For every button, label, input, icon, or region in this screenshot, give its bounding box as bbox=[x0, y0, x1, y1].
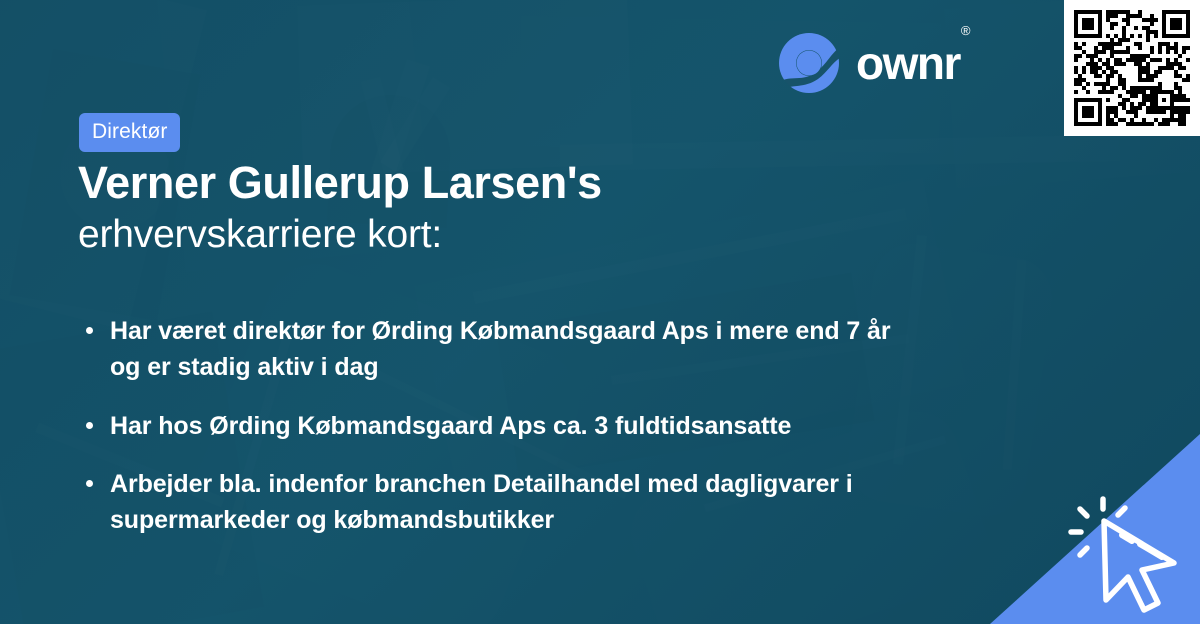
list-item-label: Har hos Ørding Købmandsgaard Aps ca. 3 f… bbox=[110, 412, 791, 440]
list-item: Har været direktør for Ørding Købmandsga… bbox=[82, 313, 910, 386]
bullet-icon bbox=[86, 327, 93, 334]
career-facts-list: Har været direktør for Ørding Købmandsga… bbox=[82, 313, 912, 538]
role-badge: Direktør bbox=[79, 113, 180, 152]
profile-card: ownr ® Direktør Verner Gullerup Larsen's… bbox=[0, 0, 1200, 624]
list-item: Har hos Ørding Købmandsgaard Aps ca. 3 f… bbox=[82, 408, 910, 444]
headline-subtitle: erhvervskarriere kort: bbox=[78, 212, 918, 258]
qr-code-panel[interactable] bbox=[1064, 0, 1200, 136]
registered-trademark-icon: ® bbox=[961, 24, 971, 37]
qr-code[interactable] bbox=[1074, 10, 1190, 126]
headline-name: Verner Gullerup Larsen's bbox=[78, 158, 918, 208]
list-item: Arbejder bla. indenfor branchen Detailha… bbox=[82, 466, 910, 539]
list-item-label: Arbejder bla. indenfor branchen Detailha… bbox=[110, 470, 853, 534]
click-cursor-icon bbox=[1062, 491, 1192, 616]
bullet-icon bbox=[86, 422, 93, 429]
list-item-label: Har været direktør for Ørding Købmandsga… bbox=[110, 317, 890, 381]
ownr-logo[interactable]: ownr ® bbox=[778, 32, 969, 94]
ownr-logo-mark bbox=[778, 32, 840, 94]
bullet-icon bbox=[86, 480, 93, 487]
ownr-wordmark: ownr bbox=[856, 40, 960, 86]
page-title: Verner Gullerup Larsen's erhvervskarrier… bbox=[78, 158, 918, 258]
